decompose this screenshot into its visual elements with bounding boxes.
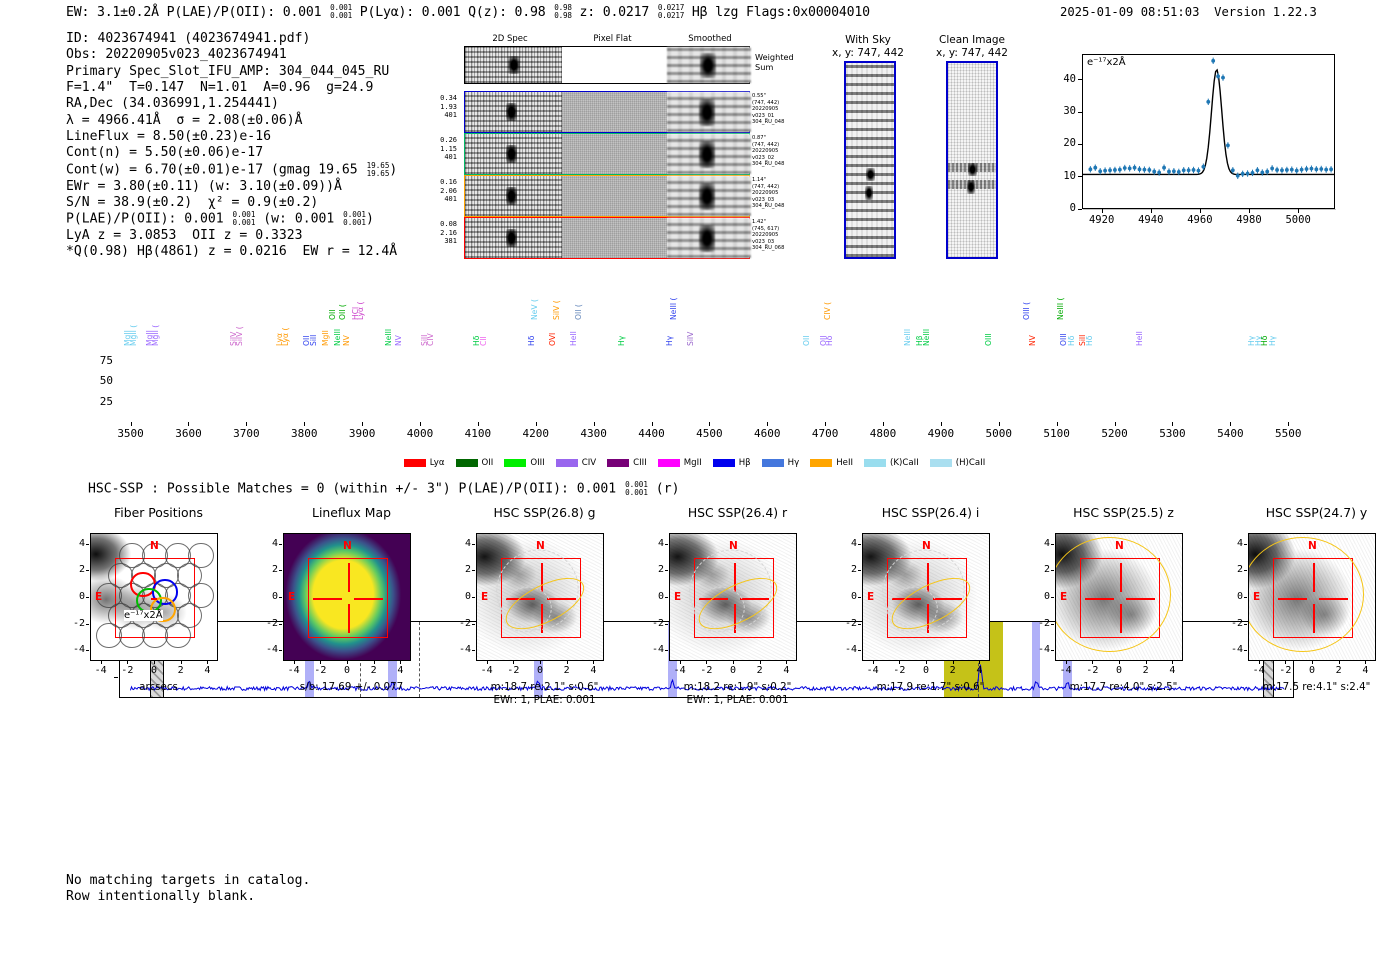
- spectrum-line-label: Hγ: [1255, 314, 1263, 346]
- compass-north: N: [922, 540, 931, 552]
- cutout-y-tick-label: -2: [450, 618, 471, 629]
- cutout-x-tick: [1066, 661, 1067, 664]
- info-plae-w-errors: 0.0010.001: [343, 211, 366, 227]
- spectrum-line-label: OII (: [339, 276, 347, 320]
- spectrum-x-tick-label: 5100: [1031, 427, 1083, 440]
- cutout-x-tick-label: 4: [1160, 665, 1184, 676]
- cutout-x-tick-label: -2: [308, 665, 332, 676]
- y-tick-label: 20: [1046, 137, 1076, 149]
- crosshair-top: [348, 563, 350, 592]
- with-sky-image: [844, 61, 896, 259]
- cutout-x-tick: [786, 661, 787, 664]
- cutout-x-tick: [207, 661, 208, 664]
- cutout-x-tick-label: 2: [1134, 665, 1158, 676]
- legend-label: OIII: [530, 458, 544, 468]
- spectrum-x-tick-label: 3700: [220, 427, 272, 440]
- info-best-solution: *Q(0.98) Hβ(4861) z = 0.0216 EW r = 12.4…: [66, 244, 397, 260]
- crosshair-left: [313, 598, 342, 600]
- cutout-x-tick-label: -4: [1054, 665, 1078, 676]
- spectrum-line-label: Hγ: [666, 314, 674, 346]
- spec2d-exposure-pixelflat: [562, 218, 667, 258]
- spec2d-exposure-pixelflat: [562, 92, 667, 132]
- cutout-title: HSC SSP(26.4) r: [641, 505, 834, 520]
- cutout-y-tick-label: -4: [836, 644, 857, 655]
- cutout-title: HSC SSP(25.5) z: [1027, 505, 1220, 520]
- cutout-y-tick-label: 2: [836, 564, 857, 575]
- spectrum-x-tick: [420, 422, 421, 426]
- spectrum-x-tick-label: 3800: [278, 427, 330, 440]
- cutout-y-tick: [279, 650, 282, 651]
- spectrum-line-label: OIII: [1060, 314, 1068, 346]
- full-spectrum-panel: e⁻¹⁷x2Å 25507535003600370038003900400041…: [0, 276, 1400, 476]
- spectrum-line-label: HeII: [1136, 314, 1144, 346]
- cutout-x-tick-label: 2: [1327, 665, 1351, 676]
- legend-swatch: [456, 459, 478, 467]
- cutout-y-tick: [472, 624, 475, 625]
- info-cont-w: Cont(w) = 6.70(±0.01)e-17 (gmag 19.65 19…: [66, 162, 397, 179]
- cutout-y-tick-label: 0: [643, 591, 664, 602]
- spec2d-exposure-pixelflat: [562, 176, 667, 216]
- cutout-x-tick-label: 4: [388, 665, 412, 676]
- cutout-x-tick-label: 0: [914, 665, 938, 676]
- legend-item: OIII: [504, 458, 544, 468]
- emission-blob: [699, 99, 715, 126]
- spectrum-line-label: SiIV: [687, 314, 695, 346]
- with-sky-title: With Skyx, y: 747, 442: [822, 34, 914, 59]
- compass-north: N: [729, 540, 738, 552]
- cutout-caption-1: s/b: 17.69 +/- 0.077: [255, 681, 448, 693]
- cutout-x-tick: [181, 661, 182, 664]
- spectrum-line-label: SiII: [310, 314, 318, 346]
- info-primary-spec: Primary Spec_Slot_IFU_AMP: 304_044_045_R…: [66, 64, 397, 80]
- spectrum-line-label: MgII (: [152, 314, 160, 346]
- cutout-image: [476, 533, 604, 661]
- y-tick-label: 10: [1046, 170, 1076, 182]
- spectrum-x-tick-label: 5400: [1204, 427, 1256, 440]
- cutout-x-tick-label: 4: [581, 665, 605, 676]
- clean-image-title: Clean Imagex, y: 747, 442: [922, 34, 1022, 59]
- cutout-y-tick-label: -2: [1222, 618, 1243, 629]
- spectrum-y-tick-label: 75: [81, 354, 113, 367]
- fiber-circle: [165, 543, 190, 568]
- spectrum-line-label: Hδ: [826, 314, 834, 346]
- spectrum-line-label: Hδ: [473, 314, 481, 346]
- cutout-y-tick-label: -4: [1029, 644, 1050, 655]
- spec2d-col-title-smoothed: Smoothed: [660, 34, 760, 44]
- spectrum-line-label: Hβ: [916, 314, 924, 346]
- cutout-y-tick-label: -2: [643, 618, 664, 629]
- compass-east: E: [1253, 591, 1260, 603]
- spectrum-line-label: Lyα: [276, 314, 284, 346]
- cutout-y-tick: [279, 570, 282, 571]
- footer-note: No matching targets in catalog. Row inte…: [66, 873, 310, 906]
- info-seeing-throughput: F=1.4" T=0.147 N=1.01 A=0.96 g=24.9: [66, 80, 397, 96]
- spectrum-line-label: SiIV (: [553, 276, 561, 320]
- spectrum-x-tick-label: 4400: [626, 427, 678, 440]
- cutout-x-tick: [1312, 661, 1313, 664]
- cutout-x-tick: [374, 661, 375, 664]
- spectrum-line-label: Hγ: [1269, 314, 1277, 346]
- spectrum-x-tick: [1115, 422, 1116, 426]
- cutout-y-tick: [665, 570, 668, 571]
- spec2d-row: [464, 91, 750, 133]
- spec2d-row: [464, 217, 750, 259]
- crosshair-left: [151, 598, 157, 600]
- cutout-caption-1: m:17.7 re:4.0" s:2.5": [1027, 681, 1220, 693]
- spec2d-exposure-pixelflat: [562, 134, 667, 174]
- spec2d-rows: [464, 91, 750, 261]
- y-tick: [1078, 144, 1082, 145]
- spectrum-line-label: OII: [803, 314, 811, 346]
- legend-swatch: [864, 459, 886, 467]
- cutout-y-tick-label: 2: [1222, 564, 1243, 575]
- y-tick-label: 30: [1046, 105, 1076, 117]
- spectrum-x-tick-label: 4200: [510, 427, 562, 440]
- x-tick: [1200, 209, 1201, 213]
- compass-east: E: [288, 591, 295, 603]
- cutout-x-tick-label: 0: [1107, 665, 1131, 676]
- cutout-x-tick-label: -2: [501, 665, 525, 676]
- cutout-x-tick-label: -2: [1273, 665, 1297, 676]
- cutout-y-tick: [858, 597, 861, 598]
- cutout-x-tick: [513, 661, 514, 664]
- cutout-y-tick: [279, 624, 282, 625]
- cutout-y-tick-label: 0: [64, 591, 85, 602]
- spectrum-x-tick-label: 3600: [162, 427, 214, 440]
- cutout-y-tick: [1244, 650, 1247, 651]
- cutout-caption-1: m:17.5 re:4.1" s:2.4": [1220, 681, 1400, 693]
- cutout-title: HSC SSP(24.7) y: [1220, 505, 1400, 520]
- spectrum-x-tick-label: 5000: [973, 427, 1025, 440]
- spectrum-x-tick: [304, 422, 305, 426]
- qz-errors: 0.980.98: [554, 4, 572, 20]
- info-snr-chi2: S/N = 38.9(±0.2) χ² = 0.9(±0.2): [66, 195, 397, 211]
- legend-item: Lyα: [404, 458, 445, 468]
- spectrum-x-tick: [825, 422, 826, 426]
- spec2d-row: [464, 175, 750, 217]
- info-lineflux: LineFlux = 8.50(±0.23)e-16: [66, 129, 397, 145]
- spec2d-row-metric: 0.261.15401: [423, 136, 457, 162]
- cutout-x-tick-label: 0: [721, 665, 745, 676]
- header-summary-line: EW: 3.1±0.2Å P(LAE)/P(OII): 0.001 0.0010…: [66, 4, 870, 20]
- cutout-y-tick-label: -2: [257, 618, 278, 629]
- x-tick-label: 4920: [1080, 214, 1124, 226]
- spectrum-line-label: NeIII: [334, 314, 342, 346]
- y-tick-label: 0: [1046, 202, 1076, 214]
- spectrum-line-label: Hδ: [528, 314, 536, 346]
- y-tick: [1078, 79, 1082, 80]
- legend-label: (K)CaII: [890, 458, 919, 468]
- spectrum-line-label: CIV (: [824, 276, 832, 320]
- cutout-x-tick: [487, 661, 488, 664]
- cutout-y-tick: [279, 544, 282, 545]
- info-radec: RA,Dec (34.036991,1.254441): [66, 96, 397, 112]
- y-tick: [1078, 176, 1082, 177]
- cutout-x-tick: [899, 661, 900, 664]
- cutout-x-tick-label: -4: [282, 665, 306, 676]
- cutout-x-tick: [1365, 661, 1366, 664]
- cutout-y-tick-label: 0: [1029, 591, 1050, 602]
- spectrum-flux-units: e⁻¹⁷x2Å: [124, 610, 163, 621]
- compass-north: N: [536, 540, 545, 552]
- y-tick: [1078, 209, 1082, 210]
- footer-line1: No matching targets in catalog.: [66, 873, 310, 888]
- cutout-x-tick: [733, 661, 734, 664]
- cutout-x-tick-label: 4: [195, 665, 219, 676]
- sky-panel-group: With Skyx, y: 747, 442 Clean Imagex, y: …: [822, 34, 1022, 264]
- zoom-plot-canvas: [1083, 55, 1336, 210]
- cutout-x-tick-label: -4: [89, 665, 113, 676]
- cutout-y-tick: [86, 624, 89, 625]
- header-summary-pre: EW: 3.1±0.2Å P(LAE)/P(OII): 0.001: [66, 5, 329, 20]
- spec2d-row-annotation: 1.14"(747, 442)20220905v023_03304_RU_048: [752, 177, 808, 210]
- cutout-x-tick: [101, 661, 102, 664]
- hsc-ssp-header: HSC-SSP : Possible Matches = 0 (within +…: [88, 481, 679, 497]
- legend-item: Hγ: [762, 458, 800, 468]
- spec2d-exposure-2dspec: [465, 176, 562, 216]
- legend-label: CIV: [582, 458, 596, 468]
- compass-north: N: [1308, 540, 1317, 552]
- legend-swatch: [607, 459, 629, 467]
- spectrum-x-tick: [652, 422, 653, 426]
- cutout-y-tick: [472, 544, 475, 545]
- emission-blob: [506, 145, 517, 163]
- legend-swatch: [930, 459, 952, 467]
- cutout-x-tick: [1092, 661, 1093, 664]
- cutout-panel: HSC SSP(26.8) gNE-4-2024-4-2024m:18.7 re…: [448, 505, 641, 735]
- spectrum-line-label: Hδ: [1261, 314, 1269, 346]
- info-wavelength-sigma: λ = 4966.41Å σ = 2.08(±0.06)Å: [66, 113, 397, 129]
- cutout-x-tick-label: 4: [774, 665, 798, 676]
- cutout-x-tick-label: 0: [528, 665, 552, 676]
- cutout-panel: HSC SSP(24.7) yNE-4-2024-4-2024m:17.5 re…: [1220, 505, 1400, 735]
- cutout-y-tick-label: 4: [450, 538, 471, 549]
- spectrum-x-tick: [246, 422, 247, 426]
- cutout-x-tick-label: 2: [555, 665, 579, 676]
- compass-east: E: [674, 591, 681, 603]
- spectrum-legend: LyαOIIOIIICIVCIIIMgIIHβHγHeII(K)CaII(H)C…: [0, 452, 1400, 471]
- spec2d-row-metric: 0.082.16381: [423, 220, 457, 246]
- info-ewr: EWr = 3.80(±0.11) (w: 3.10(±0.09))Å: [66, 179, 397, 195]
- cutout-x-tick-label: -2: [694, 665, 718, 676]
- compass-east: E: [1060, 591, 1067, 603]
- cutout-y-tick: [279, 597, 282, 598]
- info-redshifts: LyA z = 3.0853 OII z = 0.3323: [66, 228, 397, 244]
- cutout-x-tick: [953, 661, 954, 664]
- spectrum-x-tick: [883, 422, 884, 426]
- spectrum-line-label: MgII: [124, 314, 132, 346]
- cutout-y-tick-label: -4: [450, 644, 471, 655]
- cutout-panel: HSC SSP(25.5) zNE-4-2024-4-2024m:17.7 re…: [1027, 505, 1220, 735]
- cutout-y-tick-label: 2: [1029, 564, 1050, 575]
- cutout-x-tick: [680, 661, 681, 664]
- cutout-y-tick-label: 0: [1222, 591, 1243, 602]
- spectrum-x-tick-label: 4600: [741, 427, 793, 440]
- cutout-image: [283, 533, 411, 661]
- cutout-y-tick-label: -2: [836, 618, 857, 629]
- y-tick-label: 40: [1046, 73, 1076, 85]
- cutout-title: HSC SSP(26.8) g: [448, 505, 641, 520]
- spectrum-x-tick-label: 4900: [915, 427, 967, 440]
- spectrum-line-label: MgII: [322, 314, 330, 346]
- info-plae-errors: 0.0010.001: [233, 211, 256, 227]
- spectrum-line-label: CIV: [427, 314, 435, 346]
- spectrum-line-label: OII: [329, 276, 337, 320]
- spectrum-line-label: MgII (: [130, 314, 138, 346]
- cutout-x-tick: [154, 661, 155, 664]
- header-summary-mid2: z: 0.0217: [572, 5, 657, 20]
- legend-swatch: [713, 459, 735, 467]
- cutout-y-tick-label: 4: [836, 538, 857, 549]
- cutout-x-tick: [320, 661, 321, 664]
- spectrum-line-label: NeIII: [923, 314, 931, 346]
- spectrum-line-label: NV: [1029, 314, 1037, 346]
- cutout-x-tick-label: 2: [748, 665, 772, 676]
- cutout-x-tick: [1172, 661, 1173, 664]
- spectrum-line-label: NeIII: [385, 314, 393, 346]
- compass-east: E: [95, 591, 102, 603]
- spectrum-x-tick-label: 5500: [1262, 427, 1314, 440]
- cutout-x-tick-label: 2: [941, 665, 965, 676]
- legend-swatch: [658, 459, 680, 467]
- spec2d-row-metric: 0.162.06401: [423, 178, 457, 204]
- spectrum-line-label: NV: [395, 314, 403, 346]
- cutout-x-tick-label: 0: [1300, 665, 1324, 676]
- spec2d-exposure-2dspec: [465, 218, 562, 258]
- cutout-y-tick: [1051, 597, 1054, 598]
- cutout-x-tick-label: 2: [362, 665, 386, 676]
- spec2d-exposure-2dspec: [465, 134, 562, 174]
- spectrum-line-label: NeIII (: [670, 276, 678, 320]
- cutout-title: HSC SSP(26.4) i: [834, 505, 1027, 520]
- x-tick-label: 5000: [1276, 214, 1320, 226]
- info-id: ID: 4023674941 (4023674941.pdf): [66, 31, 397, 47]
- spectrum-x-tick: [362, 422, 363, 426]
- cutout-xlabel: arcsecs: [62, 681, 255, 693]
- cutout-y-tick: [665, 650, 668, 651]
- spectrum-x-tick-label: 4800: [857, 427, 909, 440]
- spectrum-y-tick-label: 25: [81, 395, 113, 408]
- x-tick-label: 4980: [1227, 214, 1271, 226]
- spectrum-x-tick: [594, 422, 595, 426]
- emission-blob: [699, 225, 715, 252]
- cutout-x-tick: [873, 661, 874, 664]
- cutout-image: [862, 533, 990, 661]
- cutout-x-tick: [1285, 661, 1286, 664]
- fiber-circle: [188, 543, 213, 568]
- cutout-y-tick-label: 2: [64, 564, 85, 575]
- cutout-y-tick-label: -4: [1222, 644, 1243, 655]
- crosshair-bottom: [348, 604, 350, 633]
- spec2d-row-annotation: 0.55"(747, 442)20220905v023_01304_RU_048: [752, 93, 808, 126]
- spectrum-x-tick: [999, 422, 1000, 426]
- legend-item: HeII: [810, 458, 853, 468]
- spec2d-row-annotation: 0.87"(747, 442)20220905v023_02304_RU_048: [752, 135, 808, 168]
- emission-blob: [506, 229, 517, 247]
- spectrum-y-tick-label: 50: [81, 374, 113, 387]
- spectrum-line-label: OIII (: [1023, 276, 1031, 320]
- cutout-y-tick-label: -4: [643, 644, 664, 655]
- legend-swatch: [504, 459, 526, 467]
- cutout-y-tick: [1051, 544, 1054, 545]
- compass-east: E: [481, 591, 488, 603]
- cutout-row: Fiber PositionsNE-4-2024-4-2024arcsecsLi…: [0, 505, 1400, 735]
- clean-image: [946, 61, 998, 259]
- legend-item: CIV: [556, 458, 596, 468]
- emission-blob: [699, 141, 715, 168]
- spectrum-x-tick: [536, 422, 537, 426]
- emission-blob: [506, 187, 517, 205]
- spectrum-x-tick: [1288, 422, 1289, 426]
- x-tick: [1151, 209, 1152, 213]
- cutout-y-tick-label: 0: [836, 591, 857, 602]
- spectrum-line-label: CII: [480, 314, 488, 346]
- cutout-x-tick-label: 2: [169, 665, 193, 676]
- cutout-y-tick-label: 0: [450, 591, 471, 602]
- footer-line2: Row intentionally blank.: [66, 889, 255, 904]
- emission-blob: [506, 103, 517, 121]
- spectrum-x-tick: [767, 422, 768, 426]
- cutout-x-tick: [127, 661, 128, 664]
- legend-swatch: [762, 459, 784, 467]
- spectrum-x-tick: [709, 422, 710, 426]
- spectrum-x-tick-label: 4100: [452, 427, 504, 440]
- spec2d-row-annotations: 0.55"(747, 442)20220905v023_01304_RU_048…: [752, 91, 808, 261]
- cutout-image: [1248, 533, 1376, 661]
- cutout-x-tick-label: 0: [142, 665, 166, 676]
- spectrum-line-label: Lyα (: [282, 314, 290, 346]
- cutout-caption-1: m:17.9 re:1.7" s:0.6": [834, 681, 1027, 693]
- spectrum-x-tick: [941, 422, 942, 426]
- z-errors: 0.02170.0217: [658, 4, 684, 20]
- spec2d-col-title-pixelflat: Pixel Flat: [565, 34, 660, 44]
- cutout-y-tick-label: -4: [257, 644, 278, 655]
- spec2d-exposure-smoothed: [667, 176, 751, 216]
- hsc-header-post: (r): [648, 482, 680, 497]
- cutout-x-tick: [1259, 661, 1260, 664]
- cutout-y-tick: [858, 570, 861, 571]
- header-summary-post: Hβ lzg Flags:0x00004010: [684, 5, 870, 20]
- emission-line-zoom-plot: e⁻¹⁷x2Å 01020304049204940496049805000: [1040, 46, 1335, 256]
- spectrum-line-label: OIII: [985, 314, 993, 346]
- cutout-y-tick: [86, 570, 89, 571]
- zoom-plot-axes: e⁻¹⁷x2Å: [1082, 54, 1335, 209]
- spectrum-line-label: Hδ: [1068, 314, 1076, 346]
- cutout-caption-1: m:18.2 re:1.9" s:0.2": [641, 681, 834, 693]
- compass-north: N: [150, 540, 159, 552]
- x-tick: [1298, 209, 1299, 213]
- legend-swatch: [556, 459, 578, 467]
- cutout-y-tick-label: 2: [450, 564, 471, 575]
- legend-label: (H)CaII: [956, 458, 986, 468]
- cutout-x-tick-label: 4: [967, 665, 991, 676]
- x-tick: [1249, 209, 1250, 213]
- fiber-circle: [119, 543, 144, 568]
- legend-item: (K)CaII: [864, 458, 919, 468]
- cutout-panel: Lineflux MapNE-4-2024-4-2024s/b: 17.69 +…: [255, 505, 448, 735]
- cutout-y-tick-label: 0: [257, 591, 278, 602]
- cutout-x-tick: [760, 661, 761, 664]
- x-tick-label: 4940: [1129, 214, 1173, 226]
- cutout-y-tick: [1051, 570, 1054, 571]
- cutout-x-tick: [1146, 661, 1147, 664]
- weighted-sum-smoothed: [667, 47, 751, 83]
- spectrum-line-label: Hδ: [1086, 314, 1094, 346]
- spectrum-line-label: Hγ: [618, 314, 626, 346]
- cutout-y-tick-label: 4: [257, 538, 278, 549]
- cutout-y-tick-label: -4: [64, 644, 85, 655]
- weighted-sum-pixelflat: [562, 47, 667, 83]
